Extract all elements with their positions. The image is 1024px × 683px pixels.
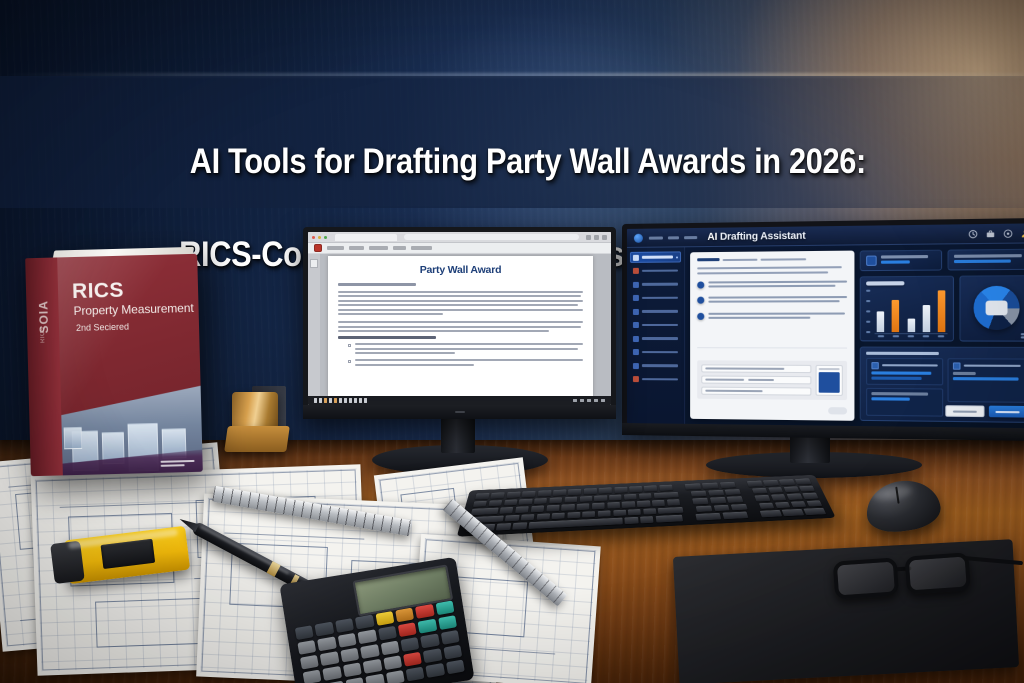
progress-bar: [871, 397, 909, 400]
address-bar[interactable]: [404, 234, 579, 240]
toolbar-menu-tools[interactable]: [411, 246, 432, 250]
app-logo-icon: [314, 244, 322, 252]
bar-5: [937, 290, 945, 332]
word-processor-screen: Party Wall Award: [308, 232, 611, 405]
sidebar-item-label: [642, 324, 678, 327]
report-icon: [866, 256, 877, 266]
book-subtitle: Property Measurement: [73, 301, 193, 318]
calculator-keypad: [295, 600, 465, 683]
document-canvas: Party Wall Award: [308, 254, 611, 396]
progress-bar: [953, 372, 976, 375]
sidebar-item-label: [642, 378, 678, 381]
task-card[interactable]: [947, 358, 1024, 403]
donut-chart-widget[interactable]: [960, 275, 1024, 341]
left-monitor: Party Wall Award: [303, 227, 616, 419]
taskbar-app-icon[interactable]: [324, 398, 327, 403]
progress-bar: [953, 377, 1018, 380]
tray-icon[interactable]: [601, 399, 605, 402]
tasks-grid: [866, 357, 1024, 417]
eyeglasses-lens-left: [833, 557, 899, 599]
tray-icon[interactable]: [580, 399, 584, 402]
clause-icon: [633, 349, 639, 355]
ai-widgets-column: [859, 249, 1024, 423]
document-bullet: [338, 359, 583, 368]
bar-4: [922, 305, 930, 332]
bar-2: [892, 300, 899, 332]
monitor-brand-logo: [455, 411, 465, 413]
document-preview-thumbnail[interactable]: [815, 365, 842, 396]
draft-subtext-line: [697, 271, 828, 274]
panel-actions: [947, 405, 1024, 417]
kpi-bars: [881, 255, 936, 266]
doc-icon: [633, 295, 639, 301]
dashboard-icon: [633, 254, 639, 260]
sidebar-item-label: [642, 310, 678, 313]
document-paragraph: [338, 321, 583, 332]
kpi-bars: [954, 254, 1024, 265]
taskbar-tray[interactable]: [573, 399, 605, 402]
step-number-icon: [697, 297, 704, 304]
sidebar-item-label: [642, 269, 678, 272]
secondary-button[interactable]: [945, 405, 984, 417]
chevron-indicator-icon: [676, 256, 678, 258]
toolbar-menu-insert[interactable]: [369, 246, 388, 250]
taskbar-app-icon[interactable]: [349, 398, 352, 403]
sidebar-item-settings[interactable]: [630, 360, 681, 371]
kpi-row: [859, 249, 1024, 271]
sidebar-item-schedules[interactable]: [630, 306, 681, 317]
kpi-card-left[interactable]: [859, 250, 942, 272]
brass-ornament-base: [224, 426, 290, 452]
tasks-panel-title: [866, 351, 939, 354]
primary-button-label: [995, 410, 1019, 412]
taskbar-apps[interactable]: [314, 398, 367, 403]
sidebar-item-label: [642, 296, 678, 299]
progress-bar: [871, 371, 931, 374]
taskbar-app-icon[interactable]: [329, 398, 332, 403]
minimize-icon[interactable]: [318, 236, 321, 239]
sidebar-item-matters[interactable]: [630, 265, 681, 276]
taskbar-app-icon[interactable]: [364, 398, 367, 403]
browser-chrome: [308, 232, 611, 243]
rics-book: SOIA RICS RICS Property Measurement 2nd …: [25, 254, 203, 476]
donut-center-label: [985, 301, 1007, 316]
draft-list-item-text: [708, 296, 846, 305]
browser-tab[interactable]: [335, 234, 397, 241]
form-fields: [701, 364, 811, 395]
menu-item-1[interactable]: [649, 236, 663, 239]
share-icon[interactable]: [586, 235, 591, 240]
draft-list-item[interactable]: [697, 312, 847, 321]
bar-chart-x-labels: [866, 335, 948, 337]
scene: AI Tools for Drafting Party Wall Awards …: [0, 0, 1024, 683]
bar-chart-plot: [866, 288, 948, 333]
taskbar-app-icon[interactable]: [334, 398, 337, 403]
sidebar-item-label: [642, 351, 678, 354]
task-icon: [871, 362, 878, 369]
right-monitor: AI Drafting Assistant: [622, 218, 1024, 441]
draft-heading-rest-2: [761, 258, 807, 260]
folder-icon: [633, 268, 639, 274]
editor-toolbar: [308, 243, 611, 254]
step-number-icon: [697, 312, 704, 319]
secondary-button-label: [953, 410, 977, 412]
taskbar-app-icon[interactable]: [314, 398, 317, 403]
draft-input-form: [697, 360, 847, 400]
taskbar-app-icon[interactable]: [319, 398, 322, 403]
maximize-icon[interactable]: [324, 236, 327, 239]
taskbar-app-icon[interactable]: [359, 398, 362, 403]
ai-dashboard-body: [627, 243, 1024, 428]
draft-heading-word: [697, 258, 719, 261]
task-card[interactable]: [866, 388, 943, 417]
taskbar-app-icon[interactable]: [344, 398, 347, 403]
taskbar-app-icon[interactable]: [354, 398, 357, 403]
alert-icon: [633, 376, 639, 382]
toolbar-menu-format[interactable]: [393, 246, 406, 250]
app-title-prefix: AI: [707, 231, 717, 242]
book-cover-band: [62, 446, 203, 476]
sidebar-item-label: [642, 337, 678, 340]
send-button[interactable]: [828, 407, 847, 414]
draft-footnote: [697, 347, 847, 353]
menu-item-3[interactable]: [684, 236, 697, 239]
zoom-icon[interactable]: [594, 235, 599, 240]
sidebar-item-notices[interactable]: [630, 292, 681, 303]
page-thumbnail[interactable]: [310, 259, 318, 268]
sidebar-item-clauses[interactable]: [630, 347, 681, 358]
bar-chart-bars: [874, 288, 948, 333]
sidebar-item-label: [642, 283, 678, 286]
sidebar-item-dashboard[interactable]: [630, 251, 681, 263]
draft-list-item[interactable]: [697, 280, 847, 289]
sidebar-item-reports[interactable]: [630, 333, 681, 344]
bar-chart-widget[interactable]: [859, 276, 954, 341]
doc-icon: [633, 281, 639, 287]
list-icon: [633, 322, 639, 328]
draft-heading-rest: [723, 259, 758, 261]
progress-bar: [871, 392, 928, 395]
page-thumbnail-rail[interactable]: [308, 254, 320, 396]
briefcase-icon[interactable]: [986, 229, 996, 239]
app-logo-icon: [634, 233, 643, 242]
bar-3: [907, 319, 915, 332]
app-title: AI Drafting Assistant: [707, 230, 805, 242]
sidebar-item-label: [642, 364, 678, 367]
task-card[interactable]: [866, 357, 943, 385]
tasks-column-right: [947, 358, 1024, 418]
bar-chart-y-axis: [866, 289, 871, 334]
document-paragraph: [338, 291, 583, 315]
bar-1: [877, 311, 884, 332]
document-subheading: [338, 283, 416, 286]
document-title: Party Wall Award: [338, 264, 583, 276]
draft-subtext: [697, 264, 847, 274]
draft-list-item-text: [708, 312, 846, 321]
bullet-marker-icon: [348, 360, 351, 363]
browser-toolbar-icons: [586, 235, 607, 240]
book-cover-photo: [61, 386, 203, 476]
prompt-input[interactable]: [701, 387, 811, 396]
document-bullet: [338, 343, 583, 356]
primary-button[interactable]: [989, 406, 1024, 418]
toolbar-menu-file[interactable]: [327, 246, 344, 250]
ai-main-area: [685, 243, 1024, 428]
close-icon[interactable]: [312, 236, 315, 239]
bullet-marker-icon: [348, 344, 351, 347]
ai-draft-panel: [690, 251, 854, 421]
sidebar-item-templates[interactable]: [630, 319, 681, 330]
eyeglasses-lens-right: [904, 552, 970, 594]
menu-icon[interactable]: [602, 235, 607, 240]
document-section-heading: [338, 336, 436, 339]
draft-list-item[interactable]: [697, 296, 847, 305]
record-icon[interactable]: [1003, 228, 1013, 238]
charts-row: [859, 275, 1024, 341]
left-monitor-neck: [441, 418, 475, 453]
menu-item-2[interactable]: [668, 236, 679, 239]
progress-bar: [871, 377, 921, 380]
ai-dashboard-screen: AI Drafting Assistant: [627, 223, 1024, 428]
kpi-card-right[interactable]: [948, 249, 1024, 271]
form-row-top[interactable]: [701, 364, 811, 373]
draft-heading: [697, 257, 847, 261]
donut-chart: [973, 286, 1019, 330]
os-taskbar: [308, 396, 611, 405]
app-title-main: Drafting Assistant: [717, 230, 805, 242]
tray-icon[interactable]: [594, 399, 598, 402]
search-input[interactable]: [701, 375, 811, 384]
book-publisher-logo: [161, 460, 195, 468]
tray-icon[interactable]: [573, 399, 577, 402]
left-monitor-bezel-bottom: [303, 405, 616, 419]
taskbar-app-icon[interactable]: [339, 398, 342, 403]
document-page[interactable]: Party Wall Award: [328, 256, 593, 396]
sidebar-item-alerts[interactable]: [630, 374, 681, 385]
draft-list-item-text: [708, 280, 846, 289]
list-icon: [633, 308, 639, 314]
draft-subtext-line: [697, 267, 842, 270]
clock-icon[interactable]: [968, 229, 978, 239]
sidebar-item-label: [642, 256, 673, 259]
step-number-icon: [697, 281, 704, 288]
tasks-column-left: [866, 357, 943, 416]
toolbar-menu-edit[interactable]: [349, 246, 364, 250]
settings-icon: [633, 363, 639, 369]
tasks-panel: [859, 346, 1024, 423]
book-title: RICS: [72, 280, 124, 302]
page-title-line-1: AI Tools for Drafting Party Wall Awards …: [190, 142, 866, 181]
task-icon: [953, 362, 961, 369]
draft-actions: [697, 406, 847, 415]
header-menu[interactable]: [649, 236, 697, 240]
sidebar-item-awards[interactable]: [630, 279, 681, 290]
ai-sidebar: [627, 247, 685, 424]
tray-icon[interactable]: [587, 399, 591, 402]
book-front-cover: RICS Property Measurement 2nd Seciered: [57, 254, 203, 476]
book-edition: 2nd Seciered: [76, 322, 129, 333]
header-icons: [968, 228, 1024, 238]
bar-chart-title: [866, 281, 905, 285]
chart-icon: [633, 336, 639, 342]
